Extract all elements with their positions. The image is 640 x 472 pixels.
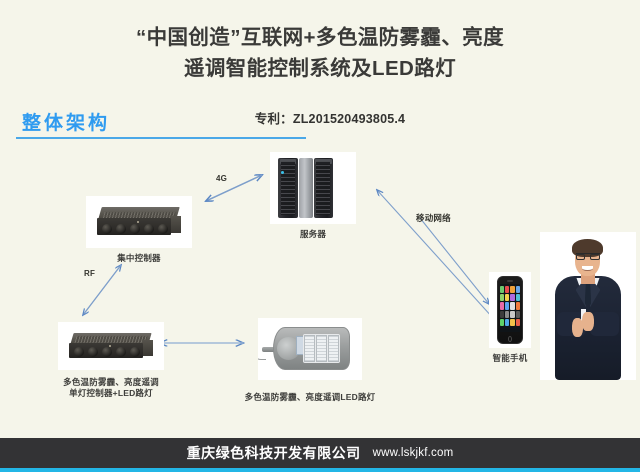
presentation-slide: “中国创造”互联网+多色温防雾霾、亮度 遥调智能控制系统及LED路灯 专利：ZL… — [0, 0, 640, 472]
controller-box-icon — [58, 322, 164, 370]
edge-label-4g: 4G — [216, 174, 227, 183]
edge-label-rf: RF — [84, 269, 95, 278]
node-server-label: 服务器 — [270, 229, 356, 240]
led-street-lamp-icon — [258, 318, 362, 380]
footer-website-url[interactable]: www.lskjkf.com — [373, 447, 454, 459]
edge-concentrator-server-line-rev — [206, 175, 262, 201]
node-street-lamp-label: 多色温防雾霾、亮度遥调LED路灯 — [215, 392, 405, 403]
title-line-2: 遥调智能控制系统及LED路灯 — [0, 53, 640, 84]
edge-concentrator-server-line — [206, 175, 262, 201]
slide-title: “中国创造”互联网+多色温防雾霾、亮度 遥调智能控制系统及LED路灯 — [0, 22, 640, 84]
edge-mobile-network-down — [420, 218, 489, 304]
node-concentrator-label: 集中控制器 — [86, 253, 192, 264]
controller-box-icon — [86, 196, 192, 248]
node-concentrator[interactable]: 集中控制器 — [86, 196, 192, 264]
node-street-lamp[interactable]: 多色温防雾霾、亮度遥调LED路灯 — [258, 318, 362, 403]
edge-label-mobile-network: 移动网络 — [416, 212, 451, 224]
node-smartphone-label: 智能手机 — [489, 353, 531, 364]
node-smartphone[interactable]: 智能手机 — [489, 272, 531, 364]
node-lamp-controller-label-line2: 单灯控制器+LED路灯 — [36, 388, 186, 399]
title-line-1: “中国创造”互联网+多色温防雾霾、亮度 — [0, 22, 640, 53]
node-lamp-controller-label-line1: 多色温防雾霾、亮度遥调 — [36, 377, 186, 388]
smartphone-icon — [489, 272, 531, 348]
edge-server-smartphone — [377, 190, 493, 318]
footer-company-name: 重庆绿色科技开发有限公司 — [187, 443, 361, 463]
node-lamp-controller-label: 多色温防雾霾、亮度遥调 单灯控制器+LED路灯 — [36, 377, 186, 399]
patent-number: 专利：ZL201520493805.4 — [200, 108, 460, 127]
server-rack-icon — [270, 152, 356, 224]
businessman-photo — [540, 232, 636, 380]
section-heading: 整体架构 — [22, 108, 110, 135]
node-lamp-controller[interactable]: 多色温防雾霾、亮度遥调 单灯控制器+LED路灯 — [58, 322, 164, 399]
section-underline — [16, 137, 306, 139]
footer-bar: 重庆绿色科技开发有限公司 www.lskjkf.com — [0, 438, 640, 472]
node-server[interactable]: 服务器 — [270, 152, 356, 240]
